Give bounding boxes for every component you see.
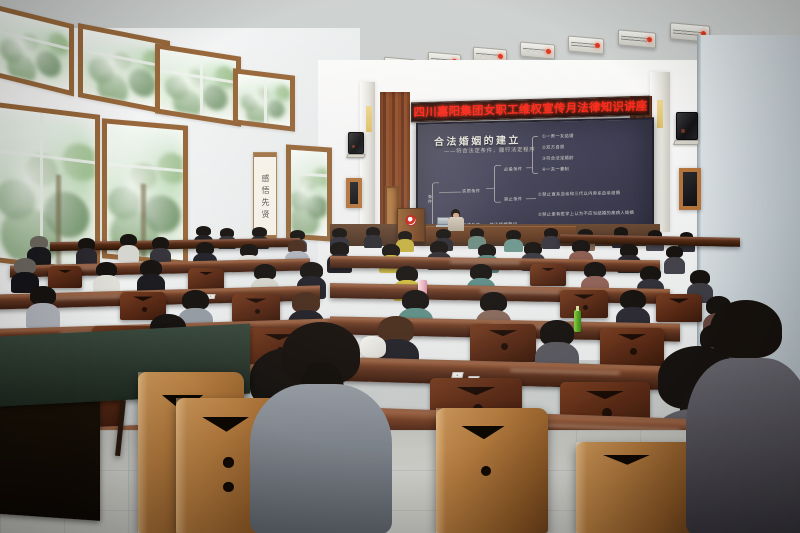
attendee-foreground-large bbox=[256, 322, 386, 533]
lecture-hall-photo: 感 悟 先 贤 四川嘉阳集团女职工维权宣传月法律知识讲座 合法婚姻的建立 ——符… bbox=[0, 0, 800, 533]
attendee bbox=[544, 228, 558, 249]
wall-mounted-panel bbox=[679, 168, 701, 210]
tree-item-required: ③符合法定婚龄 bbox=[542, 155, 574, 162]
ceiling-vent-unit bbox=[568, 35, 604, 54]
hair bbox=[710, 300, 782, 358]
tree-item-required: ①一男一女结婚 bbox=[542, 133, 574, 140]
tree-connector bbox=[486, 188, 494, 189]
attendee bbox=[96, 262, 117, 295]
attendee bbox=[366, 227, 380, 248]
attendee bbox=[506, 230, 521, 252]
foreground-chair[interactable] bbox=[436, 408, 548, 533]
attendee bbox=[120, 234, 137, 261]
auditorium-chair[interactable] bbox=[470, 324, 536, 362]
foreground-chair[interactable] bbox=[576, 442, 696, 533]
tree-node-root: 条件 bbox=[426, 194, 432, 204]
attendee-foreground-large bbox=[690, 300, 800, 533]
pillar-accent-stripe bbox=[657, 100, 663, 128]
scroll-char: 先 bbox=[261, 198, 269, 207]
tree-node-l1-substantive: 实质条件 bbox=[462, 188, 480, 194]
wall-speaker bbox=[676, 112, 698, 140]
attendee bbox=[30, 286, 56, 328]
wall-mounted-panel bbox=[346, 178, 362, 208]
ceiling-vent-unit bbox=[520, 41, 555, 59]
tree-connector bbox=[526, 167, 532, 168]
speaker-bracket bbox=[346, 154, 366, 158]
pillar-accent-stripe bbox=[366, 106, 372, 132]
desk-end-panel bbox=[0, 388, 100, 521]
green-soda-bottle bbox=[574, 310, 581, 332]
clerestory-window bbox=[233, 68, 295, 132]
torso bbox=[250, 384, 392, 533]
tree-connector bbox=[526, 198, 536, 199]
scroll-char: 感 bbox=[261, 174, 269, 183]
tree-node-l2-prohibited: 禁止条件 bbox=[504, 196, 522, 202]
tree-item-prohibited: ②禁止患有医学上认为不应当结婚的疾病人结婚 bbox=[538, 210, 634, 218]
wall-speaker bbox=[348, 132, 364, 154]
attendee bbox=[78, 238, 95, 264]
tree-brace-l2 bbox=[494, 165, 501, 203]
tree-connector bbox=[439, 192, 461, 193]
speaker-bracket bbox=[673, 140, 700, 145]
auditorium-chair[interactable] bbox=[600, 328, 664, 366]
auditorium-chair[interactable] bbox=[530, 264, 566, 286]
scroll-char: 悟 bbox=[261, 186, 269, 195]
auditorium-chair[interactable] bbox=[48, 266, 82, 288]
tree-item-prohibited: ①禁止直系血亲和三代以内旁系血亲结婚 bbox=[538, 190, 620, 198]
podium-emblem bbox=[406, 215, 417, 226]
attendee bbox=[666, 246, 683, 273]
auditorium-chair[interactable] bbox=[560, 290, 608, 318]
ceiling-vent-unit bbox=[618, 29, 656, 48]
tree-item-required: ④一夫一妻制 bbox=[542, 166, 569, 173]
tree-brace-required bbox=[532, 136, 538, 174]
scroll-char: 贤 bbox=[261, 210, 269, 219]
clerestory-window bbox=[155, 43, 241, 127]
attendee bbox=[398, 231, 412, 252]
tree-node-l2-required: 必备条件 bbox=[504, 166, 522, 172]
tree-item-required: ②双方自愿 bbox=[542, 144, 565, 151]
auditorium-chair[interactable] bbox=[188, 268, 224, 290]
torso bbox=[686, 358, 800, 533]
auditorium-chair[interactable] bbox=[232, 294, 280, 322]
